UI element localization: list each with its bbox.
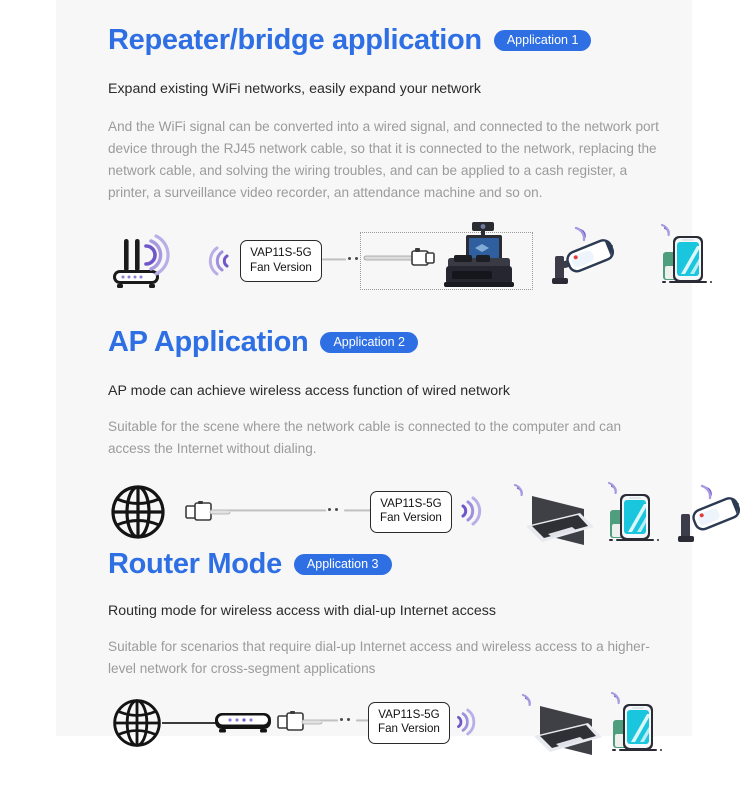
section-router-mode: Router Mode Application 3 Routing mode f… [56, 550, 692, 790]
cable-segment [320, 719, 338, 722]
device-label-line1: VAP11S-5G [250, 246, 312, 260]
device-box-2: VAP11S-5G Fan Version [370, 491, 452, 532]
wifi-router-icon [110, 232, 180, 299]
section-1-body: And the WiFi signal can be converted int… [56, 116, 692, 204]
device-label-line1: VAP11S-5G [380, 497, 442, 511]
section-2-title: AP Application [108, 328, 308, 357]
rj45-cable-icon [278, 712, 322, 737]
section-2-badge: Application 2 [320, 332, 418, 354]
section-3-body: Suitable for scenarios that require dial… [56, 636, 692, 680]
section-2-lead: AP mode can achieve wireless access func… [56, 381, 692, 402]
device-label-line2: Fan Version [380, 511, 442, 525]
section-1-diagram: VAP11S-5G Fan Version [56, 216, 692, 316]
wifi-signal-icon [208, 246, 234, 281]
section-3-diagram: VAP11S-5G Fan Version [56, 690, 692, 790]
content-panel: Repeater/bridge application Application … [56, 0, 692, 736]
section-1-header: Repeater/bridge application Application … [56, 26, 692, 55]
device-label-line1: VAP11S-5G [378, 708, 440, 722]
cable-segment [228, 509, 326, 512]
modem-icon [214, 710, 272, 739]
device-box-3: VAP11S-5G Fan Version [368, 702, 450, 743]
cable-dots [348, 257, 358, 260]
security-camera-icon [550, 228, 620, 293]
cable-dots [328, 508, 338, 511]
device-label-line2: Fan Version [250, 261, 312, 275]
section-1-lead: Expand existing WiFi networks, easily ex… [56, 79, 692, 100]
smartphone-icon [601, 482, 659, 553]
smartphone-icon [654, 224, 712, 295]
pos-cash-register-icon [442, 222, 522, 295]
page-root: Repeater/bridge application Application … [0, 0, 750, 750]
device-box-1: VAP11S-5G Fan Version [240, 240, 322, 281]
laptop-icon [508, 482, 594, 553]
laptop-icon [516, 692, 602, 763]
section-2-header: AP Application Application 2 [56, 328, 692, 357]
cable-dots [340, 718, 350, 721]
section-1-badge: Application 1 [494, 30, 592, 52]
security-camera-icon [676, 486, 746, 551]
globe-icon [110, 484, 166, 545]
wifi-signal-icon [452, 708, 476, 741]
smartphone-icon [604, 692, 662, 763]
section-3-badge: Application 3 [294, 554, 392, 576]
section-1-title: Repeater/bridge application [108, 26, 482, 55]
rj45-cable-icon [364, 248, 436, 273]
connection-line [162, 722, 216, 723]
section-ap-application: AP Application Application 2 AP mode can… [56, 328, 692, 574]
globe-icon [112, 698, 162, 753]
section-3-title: Router Mode [108, 550, 282, 579]
rj45-cable-icon [186, 502, 230, 527]
section-2-body: Suitable for the scene where the network… [56, 416, 692, 460]
cable-segment [322, 258, 346, 261]
section-3-header: Router Mode Application 3 [56, 550, 692, 579]
section-3-lead: Routing mode for wireless access with di… [56, 601, 692, 622]
section-repeater-bridge: Repeater/bridge application Application … [56, 26, 692, 316]
device-label-line2: Fan Version [378, 722, 440, 736]
wifi-signal-icon [456, 496, 482, 531]
